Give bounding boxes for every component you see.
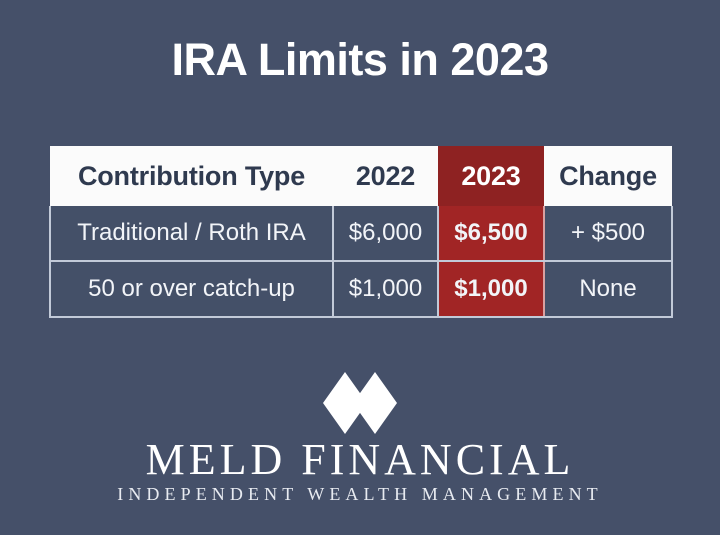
meld-diamonds-icon (315, 370, 405, 436)
cell-change: + $500 (544, 206, 672, 261)
cell-contribution-type: Traditional / Roth IRA (50, 206, 333, 261)
ira-limits-table: Contribution Type 2022 2023 Change Tradi… (49, 146, 673, 318)
logo-wordmark: MELD FINANCIAL (0, 438, 720, 482)
page-title: IRA Limits in 2023 (0, 34, 720, 86)
cell-contribution-type: 50 or over catch-up (50, 261, 333, 317)
table-body: Traditional / Roth IRA $6,000 $6,500 + $… (50, 206, 672, 317)
cell-2023-limit: $1,000 (438, 261, 544, 317)
table-header-row: Contribution Type 2022 2023 Change (50, 146, 672, 206)
cell-change: None (544, 261, 672, 317)
logo-tagline: INDEPENDENT WEALTH MANAGEMENT (0, 485, 720, 503)
table-row: Traditional / Roth IRA $6,000 $6,500 + $… (50, 206, 672, 261)
cell-2022-limit: $6,000 (333, 206, 438, 261)
column-header-contribution-type: Contribution Type (50, 146, 333, 206)
ira-limits-table-container: Contribution Type 2022 2023 Change Tradi… (49, 146, 671, 318)
table-header: Contribution Type 2022 2023 Change (50, 146, 672, 206)
cell-2022-limit: $1,000 (333, 261, 438, 317)
column-header-2023: 2023 (438, 146, 544, 206)
brand-logo: MELD FINANCIAL INDEPENDENT WEALTH MANAGE… (0, 370, 720, 503)
cell-2023-limit: $6,500 (438, 206, 544, 261)
table-row: 50 or over catch-up $1,000 $1,000 None (50, 261, 672, 317)
column-header-2022: 2022 (333, 146, 438, 206)
column-header-change: Change (544, 146, 672, 206)
